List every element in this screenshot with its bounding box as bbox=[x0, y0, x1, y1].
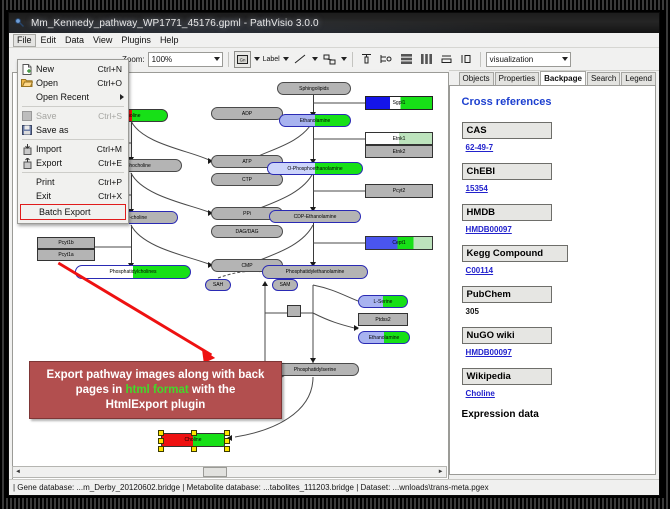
same-height-icon[interactable] bbox=[458, 51, 475, 68]
menu-item-print[interactable]: Print Ctrl+P bbox=[18, 175, 128, 189]
xref-value-cas[interactable]: 62-49-7 bbox=[466, 143, 645, 152]
same-width-icon[interactable] bbox=[438, 51, 455, 68]
menu-label: Save as bbox=[36, 125, 122, 135]
annotation-line-1: Export pathway images along with back bbox=[47, 369, 265, 381]
xref-name-cas: CAS bbox=[462, 122, 552, 139]
menu-label: New bbox=[36, 64, 98, 74]
xref-name-wikipedia: Wikipedia bbox=[462, 368, 552, 385]
xref-name-pubchem: PubChem bbox=[462, 286, 552, 303]
menu-label: Exit bbox=[36, 191, 98, 201]
menu-label: Import bbox=[36, 144, 97, 154]
align-left-icon[interactable] bbox=[378, 51, 395, 68]
visualization-combobox[interactable]: visualization bbox=[486, 52, 571, 67]
annotation-line-2a: pages in bbox=[76, 384, 126, 396]
xref-name-hmdb: HMDB bbox=[462, 204, 552, 221]
side-panel-tabs: Objects Properties Backpage Search Legen… bbox=[449, 72, 656, 85]
scroll-right-icon[interactable]: ► bbox=[436, 468, 446, 476]
expression-data-heading: Expression data bbox=[462, 409, 645, 420]
menu-separator-1 bbox=[22, 106, 124, 107]
menu-accel: Ctrl+O bbox=[97, 78, 128, 88]
tab-backpage[interactable]: Backpage bbox=[540, 71, 586, 85]
toolbar-separator bbox=[228, 52, 229, 67]
save-as-icon bbox=[18, 125, 36, 135]
zoom-combobox[interactable]: 100% bbox=[148, 52, 223, 67]
file-menu-dropdown[interactable]: New Ctrl+N Open Ctrl+O Open Recent bbox=[17, 59, 129, 224]
scroll-left-icon[interactable]: ◄ bbox=[13, 468, 23, 476]
menu-accel: Ctrl+S bbox=[98, 111, 128, 121]
menu-item-open[interactable]: Open Ctrl+O bbox=[18, 76, 128, 90]
visualization-value: visualization bbox=[490, 55, 534, 64]
xref-value-nugo[interactable]: HMDB00097 bbox=[466, 348, 645, 357]
shape-icon[interactable] bbox=[321, 51, 338, 68]
menu-file[interactable]: File bbox=[13, 34, 36, 47]
menu-item-new[interactable]: New Ctrl+N bbox=[18, 62, 128, 76]
menu-label: Batch Export bbox=[39, 207, 125, 217]
menu-label: Export bbox=[36, 158, 98, 168]
line-dropdown-chevron-icon[interactable] bbox=[312, 57, 318, 61]
menu-item-export[interactable]: Export Ctrl+E bbox=[18, 156, 128, 170]
menu-item-open-recent[interactable]: Open Recent bbox=[18, 90, 128, 104]
chevron-down-icon-2 bbox=[562, 57, 568, 61]
gene-label: Cept1 bbox=[392, 240, 405, 246]
tab-properties[interactable]: Properties bbox=[495, 72, 539, 85]
export-icon bbox=[18, 158, 36, 169]
annotation-callout: Export pathway images along with back pa… bbox=[29, 361, 282, 419]
menu-label: Open bbox=[36, 78, 97, 88]
tab-objects[interactable]: Objects bbox=[459, 72, 494, 85]
distribute-vertical-icon[interactable] bbox=[398, 51, 415, 68]
menu-item-exit[interactable]: Exit Ctrl+X bbox=[18, 189, 128, 203]
label-button-text: Label bbox=[261, 56, 282, 63]
menu-bar: File Edit Data View Plugins Help bbox=[9, 33, 659, 48]
geneproduct-dropdown-chevron-icon[interactable] bbox=[254, 57, 260, 61]
zoom-value: 100% bbox=[152, 55, 172, 64]
geneproduct-icon[interactable]: Gn bbox=[234, 51, 251, 68]
menu-separator-2 bbox=[22, 139, 124, 140]
menu-plugins[interactable]: Plugins bbox=[117, 34, 155, 47]
label-dropdown-chevron-icon[interactable] bbox=[283, 57, 289, 61]
desktop-background: Mm_Kennedy_pathway_WP1771_45176.gpml - P… bbox=[0, 0, 670, 509]
label-icon[interactable]: Label bbox=[263, 51, 280, 68]
cross-references-heading: Cross references bbox=[462, 96, 645, 108]
folder-open-icon bbox=[18, 78, 36, 88]
menu-accel: Ctrl+P bbox=[98, 177, 128, 187]
menu-item-save: Save Ctrl+S bbox=[18, 109, 128, 123]
line-icon[interactable] bbox=[292, 51, 309, 68]
pathvisio-icon bbox=[14, 17, 26, 29]
xref-name-kegg: Kegg Compound bbox=[462, 245, 568, 262]
canvas-horizontal-scrollbar[interactable]: ◄ ► bbox=[12, 466, 447, 478]
xref-name-nugo: NuGO wiki bbox=[462, 327, 552, 344]
align-top-icon[interactable] bbox=[358, 51, 375, 68]
menu-data[interactable]: Data bbox=[61, 34, 88, 47]
menu-accel: Ctrl+M bbox=[97, 144, 128, 154]
chevron-down-icon bbox=[214, 57, 220, 61]
import-icon bbox=[18, 144, 36, 155]
toolbar-separator-2 bbox=[352, 52, 353, 67]
window-title: Mm_Kennedy_pathway_WP1771_45176.gpml - P… bbox=[31, 18, 319, 29]
menu-label: Print bbox=[36, 177, 98, 187]
menu-edit[interactable]: Edit bbox=[37, 34, 61, 47]
tab-search[interactable]: Search bbox=[587, 72, 620, 85]
menu-accel: Ctrl+E bbox=[98, 158, 128, 168]
title-bar: Mm_Kennedy_pathway_WP1771_45176.gpml - P… bbox=[9, 13, 659, 33]
xref-value-kegg[interactable]: C00114 bbox=[466, 266, 645, 275]
menu-item-import[interactable]: Import Ctrl+M bbox=[18, 142, 128, 156]
backpage-content[interactable]: Cross references CAS 62-49-7 ChEBI 15354… bbox=[449, 85, 656, 475]
status-bar: | Gene database: ...m_Derby_20120602.bri… bbox=[9, 479, 659, 495]
tab-legend[interactable]: Legend bbox=[621, 72, 656, 85]
menu-label: Save bbox=[36, 111, 98, 121]
annotation-line-3: HtmlExport plugin bbox=[106, 399, 206, 411]
menu-separator-3 bbox=[22, 172, 124, 173]
xref-value-wikipedia[interactable]: Choline bbox=[466, 389, 645, 398]
annotation-line-2c: with the bbox=[189, 384, 236, 396]
status-text: | Gene database: ...m_Derby_20120602.bri… bbox=[9, 483, 489, 492]
svg-text:Gn: Gn bbox=[239, 57, 245, 62]
xref-value-pubchem: 305 bbox=[466, 307, 645, 316]
menu-item-save-as[interactable]: Save as bbox=[18, 123, 128, 137]
xref-value-hmdb[interactable]: HMDB00097 bbox=[466, 225, 645, 234]
application-window: Mm_Kennedy_pathway_WP1771_45176.gpml - P… bbox=[8, 12, 660, 496]
menu-view[interactable]: View bbox=[89, 34, 116, 47]
arrowhead-selected bbox=[227, 435, 232, 441]
menu-item-batch-export[interactable]: Batch Export bbox=[20, 204, 126, 220]
menu-accel: Ctrl+N bbox=[98, 64, 128, 74]
side-panel: Objects Properties Backpage Search Legen… bbox=[449, 69, 659, 495]
menu-accel: Ctrl+X bbox=[98, 191, 128, 201]
annotation-text: Export pathway images along with back pa… bbox=[47, 368, 265, 413]
menu-help[interactable]: Help bbox=[156, 34, 183, 47]
xref-value-chebi[interactable]: 15354 bbox=[466, 184, 645, 193]
annotation-highlight: html format bbox=[125, 384, 188, 396]
scrollbar-thumb[interactable] bbox=[203, 467, 227, 477]
submenu-chevron-icon bbox=[120, 94, 124, 100]
xref-name-chebi: ChEBI bbox=[462, 163, 552, 180]
toolbar-separator-3 bbox=[480, 52, 481, 67]
new-document-icon bbox=[18, 64, 36, 75]
distribute-horizontal-icon[interactable] bbox=[418, 51, 435, 68]
gene-label: Sgpl1 bbox=[393, 100, 406, 106]
save-icon bbox=[18, 111, 36, 121]
menu-label: Open Recent bbox=[36, 92, 128, 102]
shape-dropdown-chevron-icon[interactable] bbox=[341, 57, 347, 61]
